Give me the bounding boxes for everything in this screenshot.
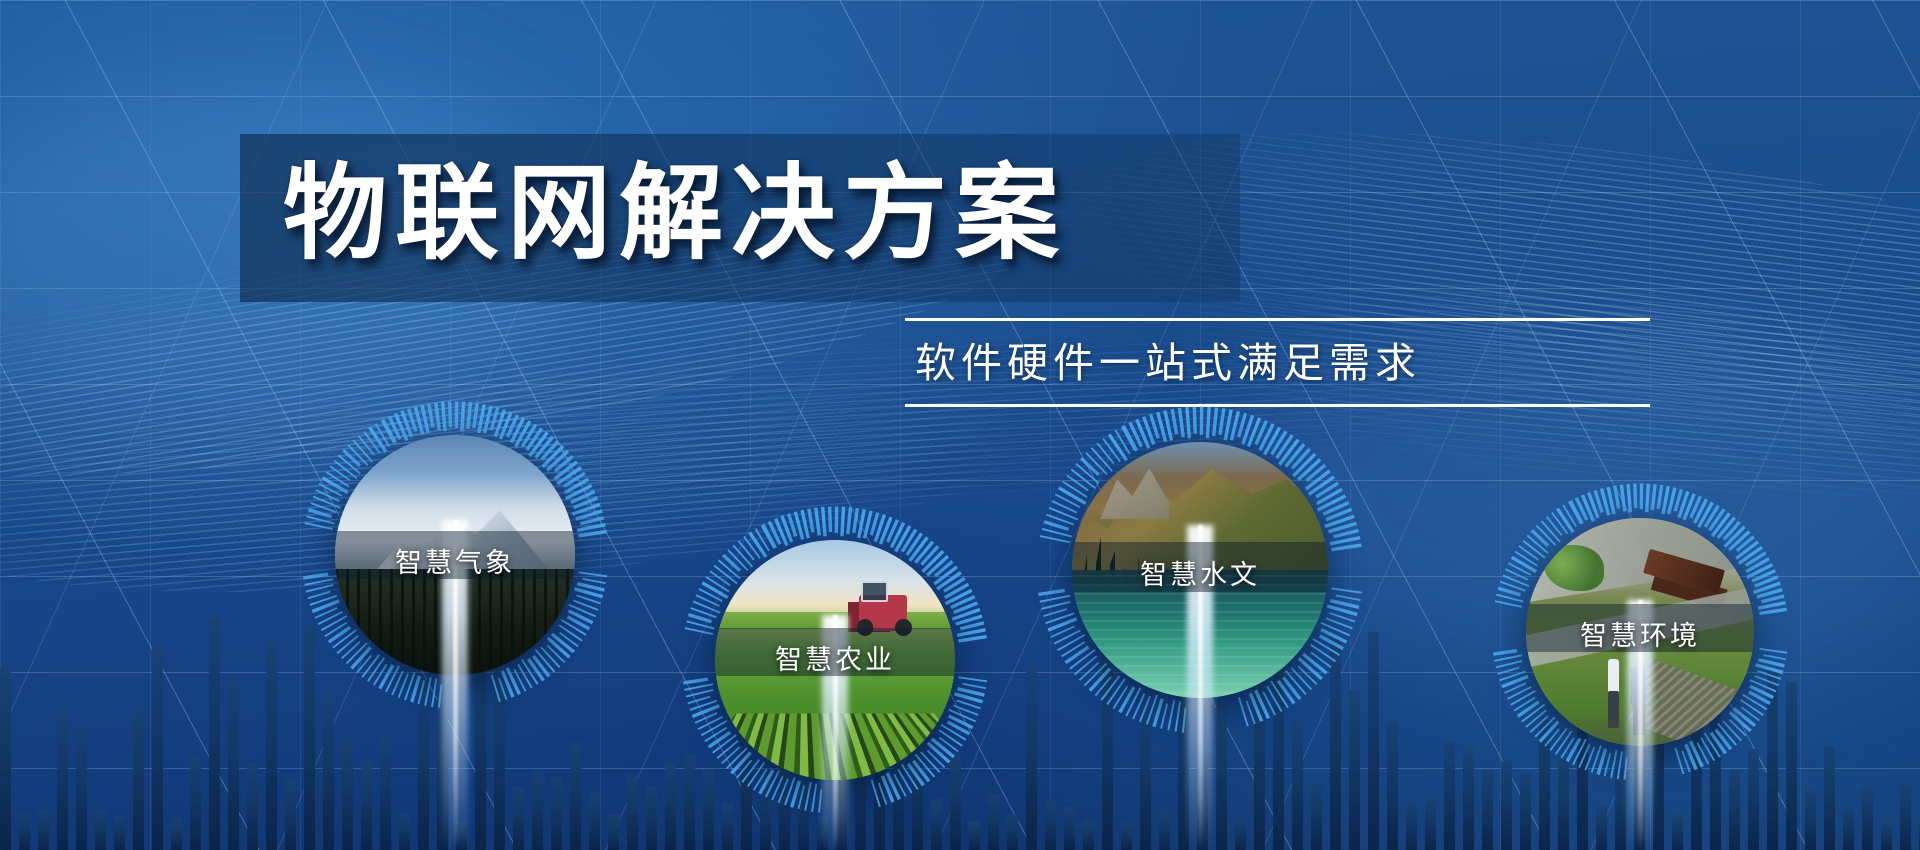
equalizer-bar [1045, 800, 1056, 850]
iot-solution-banner: 物联网解决方案 软件硬件一站式满足需求 智慧气象 [0, 0, 1920, 850]
equalizer-bar [1311, 782, 1322, 850]
equalizer-bar [361, 761, 372, 850]
equalizer-bar [969, 821, 980, 850]
equalizer-bar [190, 756, 201, 850]
equalizer-bar [19, 814, 30, 850]
equalizer-bar [1159, 810, 1170, 850]
person-one-bottom [1608, 691, 1619, 727]
equalizer-bar [551, 777, 562, 850]
equalizer-bar [399, 814, 410, 850]
equalizer-bar [380, 735, 391, 850]
equalizer-bar [1444, 742, 1455, 850]
equalizer-bar [152, 648, 163, 850]
equalizer-bar [1805, 791, 1816, 850]
equalizer-bar [1292, 720, 1303, 850]
equalizer-bar [1843, 809, 1854, 850]
equalizer-bar [1235, 818, 1246, 850]
equalizer-bar [247, 763, 258, 850]
equalizer-bar [1007, 814, 1018, 850]
equalizer-bar [1368, 632, 1379, 850]
caption-band [1072, 542, 1328, 592]
equalizer-bar [532, 771, 543, 850]
tractor-cab [861, 581, 887, 603]
equalizer-bar [323, 696, 334, 850]
equalizer-bar [1596, 806, 1607, 850]
equalizer-bar [608, 815, 619, 850]
equalizer-bar [1083, 820, 1094, 850]
equalizer-bar [1463, 749, 1474, 850]
equalizer-bar [285, 780, 296, 850]
equalizer-bar [1121, 822, 1132, 850]
equalizer-bar [627, 775, 638, 850]
equalizer-bar [133, 708, 144, 850]
equalizer-bar [513, 787, 524, 850]
equalizer-bar [38, 810, 49, 850]
equalizer-bar [1425, 799, 1436, 850]
equalizer-bar [171, 818, 182, 850]
page-title: 物联网解决方案 [283, 144, 1243, 284]
rocky-slope [1092, 462, 1169, 518]
subtitle-block: 软件硬件一站式满足需求 [905, 318, 1650, 407]
caption-band [1526, 604, 1754, 652]
equalizer-bar [76, 726, 87, 850]
equalizer-bar [1387, 722, 1398, 850]
caption-band [715, 628, 955, 676]
equalizer-bar [0, 668, 11, 850]
equalizer-bar [266, 641, 277, 850]
equalizer-bar [228, 680, 239, 850]
equalizer-bar [1672, 815, 1683, 850]
equalizer-bar [1881, 822, 1892, 850]
equalizer-bar [1900, 784, 1911, 850]
equalizer-bar [665, 763, 676, 850]
equalizer-bar [342, 737, 353, 850]
equalizer-bar [1406, 802, 1417, 850]
equalizer-bar [114, 816, 125, 850]
equalizer-bar [57, 713, 68, 850]
page-subtitle: 软件硬件一站式满足需求 [905, 321, 1650, 404]
equalizer-bar [1824, 747, 1835, 850]
equalizer-bar [570, 742, 581, 850]
equalizer-bar [1064, 807, 1075, 850]
caption-band [335, 531, 575, 579]
equalizer-bar [1862, 788, 1873, 850]
equalizer-bar [209, 618, 220, 850]
equalizer-bar [1520, 773, 1531, 850]
equalizer-bar [646, 787, 657, 850]
equalizer-bar [589, 792, 600, 850]
equalizer-bar [95, 810, 106, 850]
